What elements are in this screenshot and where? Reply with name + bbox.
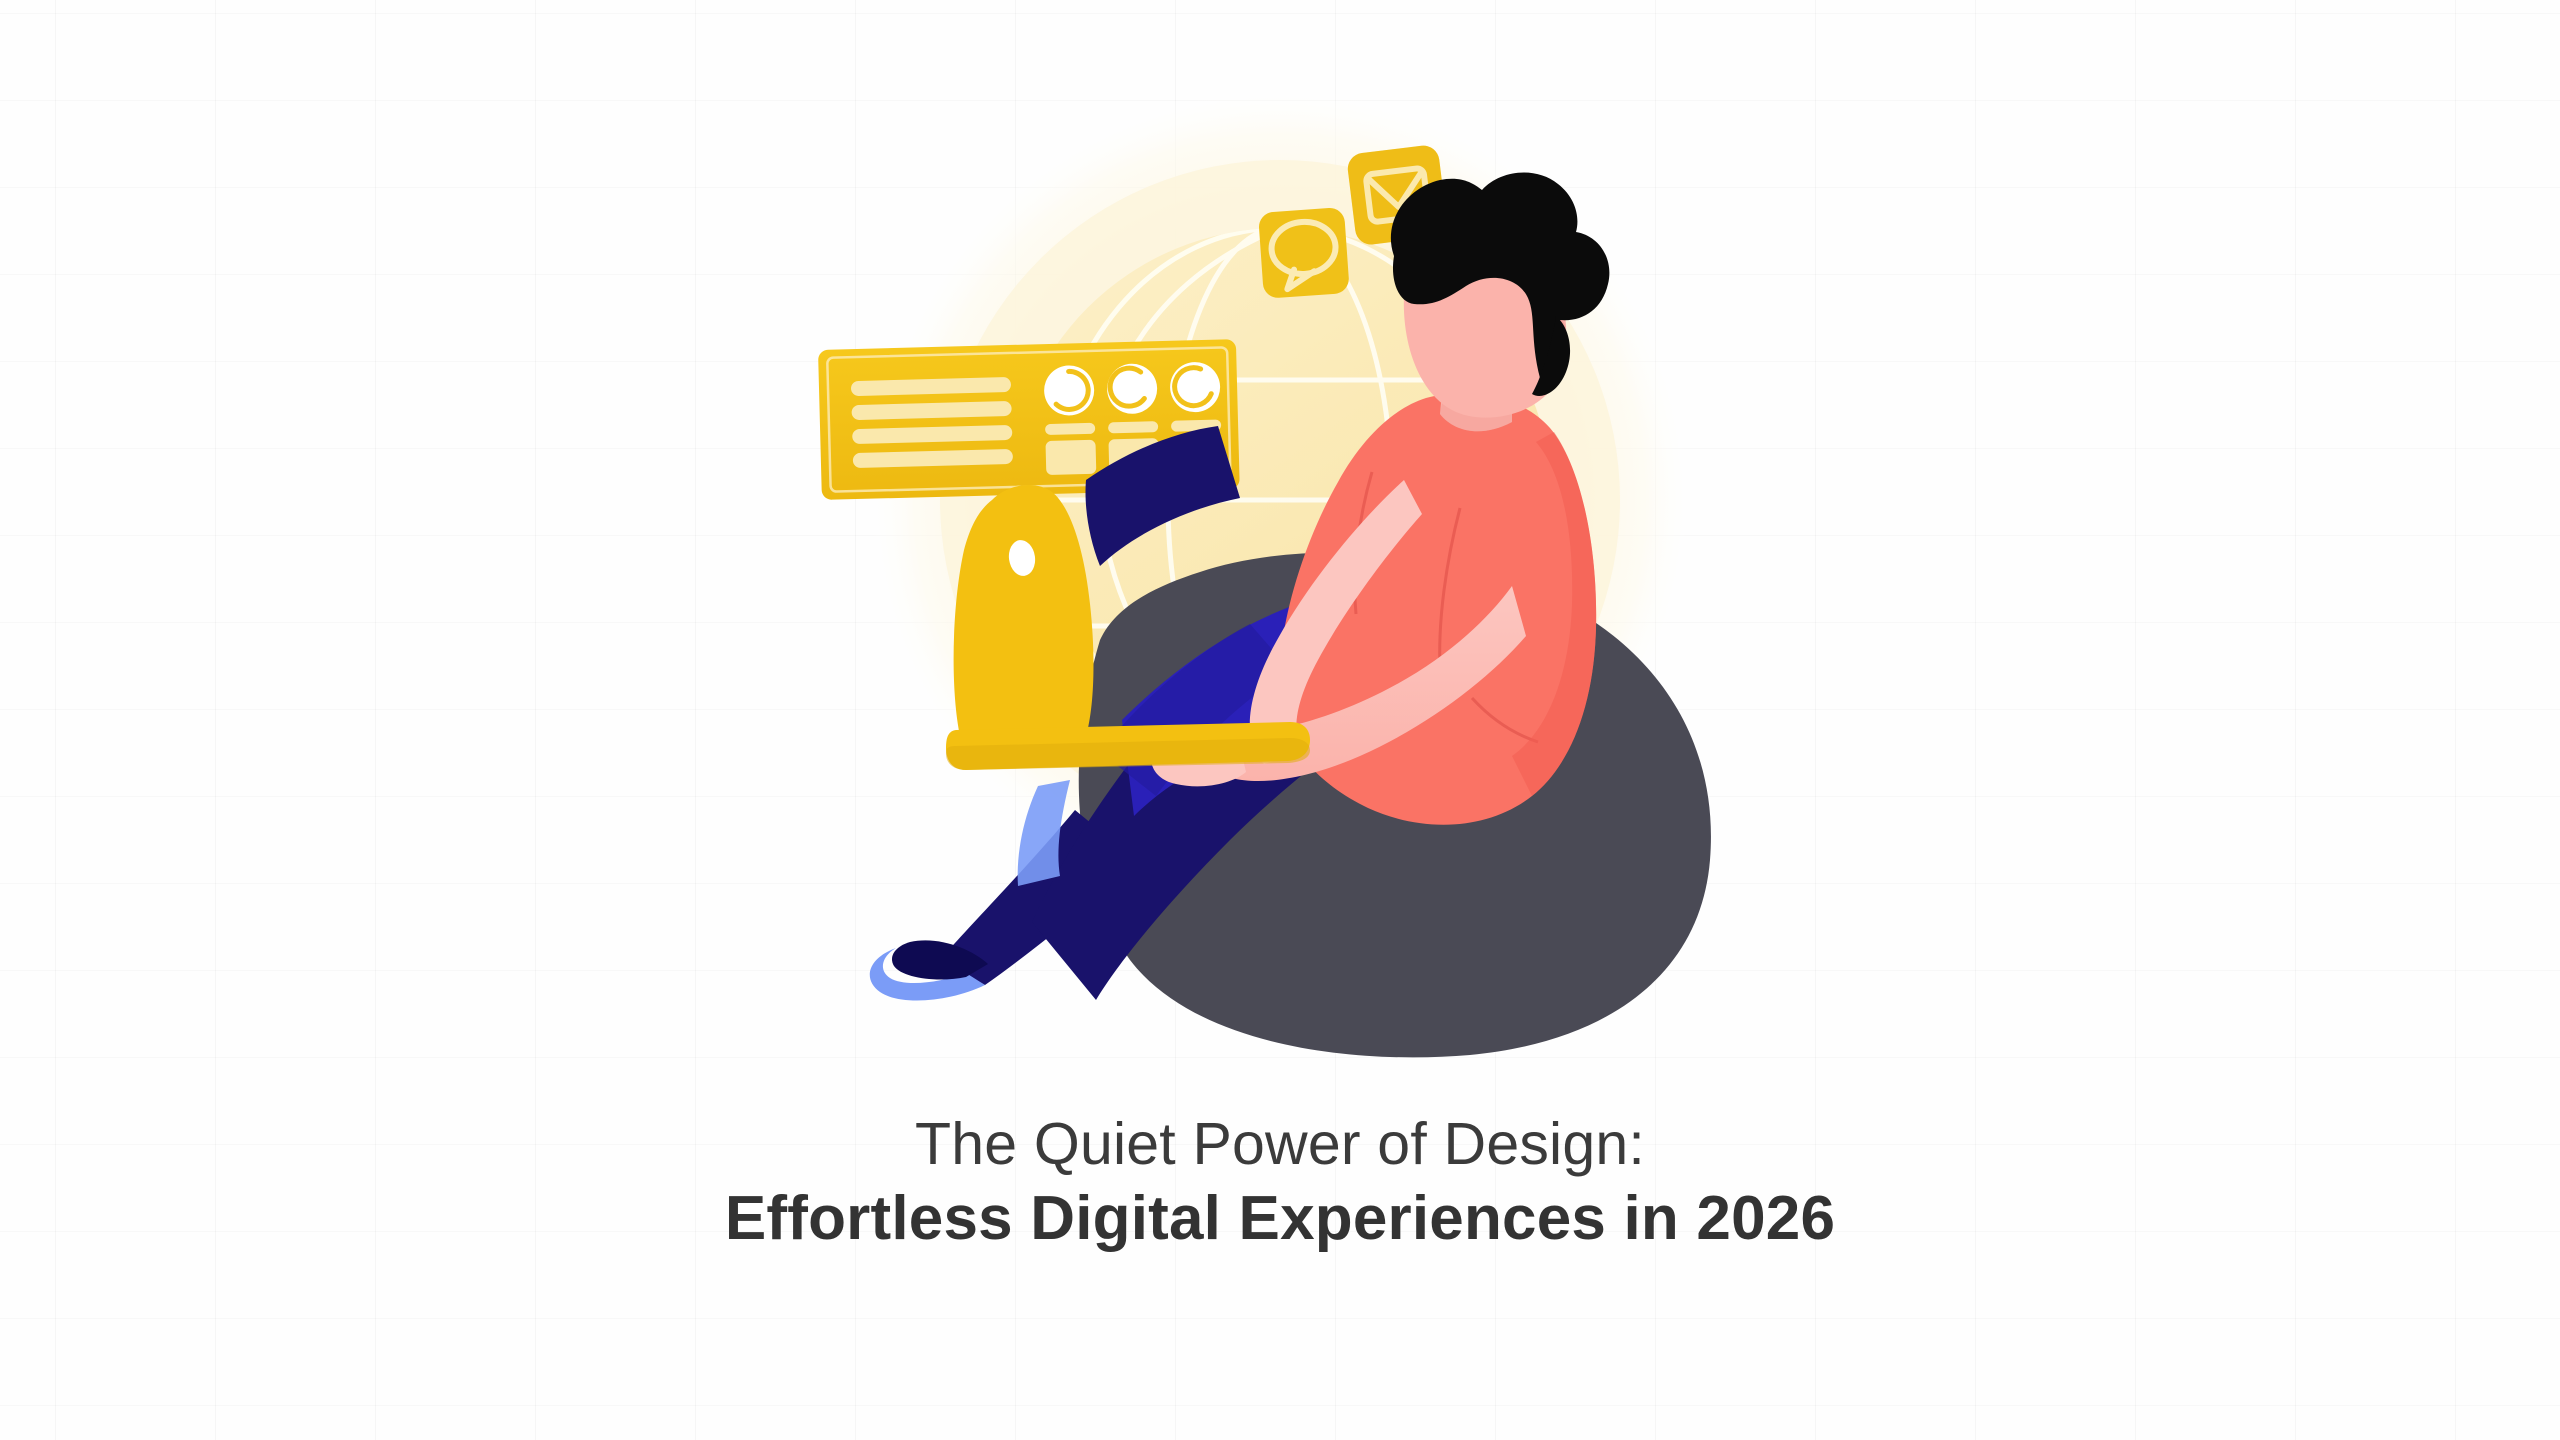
hero-stage: The Quiet Power of Design: Effortless Di… (0, 0, 2560, 1440)
hero-illustration (770, 80, 1790, 1080)
card-gauges (1043, 361, 1220, 416)
page-headline: The Quiet Power of Design: Effortless Di… (0, 1108, 2560, 1258)
headline-line-1: The Quiet Power of Design: (0, 1108, 2560, 1180)
chat-bubble-icon (1258, 207, 1350, 299)
headline-line-2: Effortless Digital Experiences in 2026 (0, 1180, 2560, 1258)
